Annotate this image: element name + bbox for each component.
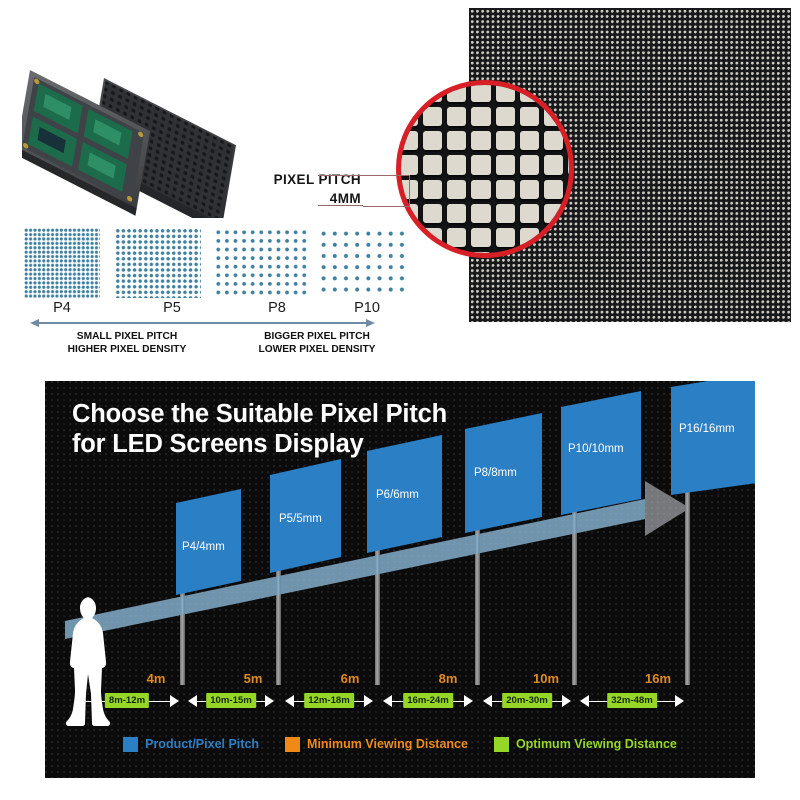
- optimum-chip-p16: 32m-48m: [607, 693, 657, 708]
- min-distance-p10: 10m: [513, 671, 579, 686]
- optimum-chip-p5: 10m-15m: [206, 693, 256, 708]
- optimum-chip-p8: 16m-24m: [403, 693, 453, 708]
- optimum-range-p10: 20m-30m: [483, 693, 571, 709]
- pixel-pitch-leader-bracket: [363, 175, 410, 207]
- density-label-p10: P10: [305, 300, 429, 316]
- optimum-range-p6: 12m-18m: [285, 693, 373, 709]
- min-distance-p4: 4m: [123, 671, 189, 686]
- arrow-right-icon: [366, 319, 375, 327]
- caption-small-pitch: SMALL PIXEL PITCH HIGHER PIXEL DENSITY: [32, 330, 222, 356]
- page-root: PIXEL PITCH 4MM P4 P5 P8 P10 SMALL PIXEL…: [0, 0, 800, 800]
- caption-bigger-pitch: BIGGER PIXEL PITCH LOWER PIXEL DENSITY: [222, 330, 412, 356]
- led-module-photo: [22, 58, 254, 218]
- legend-label-minimum-distance: Minimum Viewing Distance: [307, 737, 468, 751]
- magnified-led-grid: [396, 80, 574, 258]
- optimum-chip-p6: 12m-18m: [304, 693, 354, 708]
- density-grid-p10: [318, 228, 408, 298]
- panel-label-p4: P4/4mm: [182, 541, 225, 553]
- panel-label-p5: P5/5mm: [279, 513, 322, 525]
- optimum-range-p8: 16m-24m: [383, 693, 473, 709]
- density-grid-p5: [115, 228, 201, 298]
- scale-line: [38, 322, 367, 324]
- legend-item-optimum-distance: Optimum Viewing Distance: [494, 737, 677, 752]
- human-silhouette-icon: [63, 595, 119, 740]
- optimum-range-p5: 10m-15m: [188, 693, 274, 709]
- density-dots: [115, 228, 201, 298]
- arrow-right-icon: [562, 695, 571, 707]
- density-grid-p4: [24, 228, 100, 298]
- legend-label-product-pitch: Product/Pixel Pitch: [145, 737, 259, 751]
- legend-label-optimum-distance: Optimum Viewing Distance: [516, 737, 677, 751]
- legend-swatch-orange: [285, 737, 300, 752]
- panel-pole-3: [375, 541, 380, 685]
- optimum-chip-p10: 20m-30m: [502, 693, 552, 708]
- arrow-right-icon: [364, 695, 373, 707]
- caption-line: HIGHER PIXEL DENSITY: [32, 343, 222, 356]
- pixel-density-grids: [0, 228, 410, 298]
- arrow-right-icon: [170, 695, 179, 707]
- caption-line: LOWER PIXEL DENSITY: [222, 343, 412, 356]
- legend-item-minimum-distance: Minimum Viewing Distance: [285, 737, 468, 752]
- panel-label-p16: P16/16mm: [679, 423, 735, 435]
- optimum-chip-p4: 8m-12m: [105, 693, 149, 708]
- panel-pole-4: [475, 521, 480, 685]
- panel-pole-6: [685, 479, 690, 685]
- caption-line: BIGGER PIXEL PITCH: [222, 330, 412, 343]
- optimum-range-p4: 8m-12m: [75, 693, 179, 709]
- density-label-p4: P4: [0, 300, 124, 316]
- optimum-range-p16: 32m-48m: [580, 693, 684, 709]
- infographic-legend: Product/Pixel Pitch Minimum Viewing Dist…: [45, 731, 755, 757]
- min-distance-p8: 8m: [415, 671, 481, 686]
- pixel-pitch-infographic: Choose the Suitable Pixel Pitch for LED …: [45, 381, 755, 778]
- density-dots: [24, 228, 100, 298]
- panel-label-p6: P6/6mm: [376, 489, 419, 501]
- panel-label-p8: P8/8mm: [474, 467, 517, 479]
- magnifier-circle: [396, 80, 574, 258]
- density-grid-p8: [214, 228, 310, 298]
- panel-label-p10: P10/10mm: [568, 443, 624, 455]
- legend-item-product-pitch: Product/Pixel Pitch: [123, 737, 259, 752]
- growth-arrow-ribbon: [45, 381, 755, 778]
- pixel-pitch-callout-line1: PIXEL PITCH: [261, 170, 361, 189]
- pixel-pitch-scale-arrow: [30, 322, 375, 324]
- density-dots: [318, 228, 408, 298]
- panel-pole-2: [276, 563, 281, 685]
- min-distance-p5: 5m: [220, 671, 286, 686]
- legend-swatch-blue: [123, 737, 138, 752]
- legend-swatch-green: [494, 737, 509, 752]
- arrow-right-icon: [464, 695, 473, 707]
- min-distance-p6: 6m: [317, 671, 383, 686]
- panel-pole-5: [572, 499, 577, 685]
- density-dots: [214, 228, 310, 298]
- min-distance-p16: 16m: [625, 671, 691, 686]
- arrow-right-icon: [265, 695, 274, 707]
- caption-line: SMALL PIXEL PITCH: [32, 330, 222, 343]
- arrow-right-icon: [675, 695, 684, 707]
